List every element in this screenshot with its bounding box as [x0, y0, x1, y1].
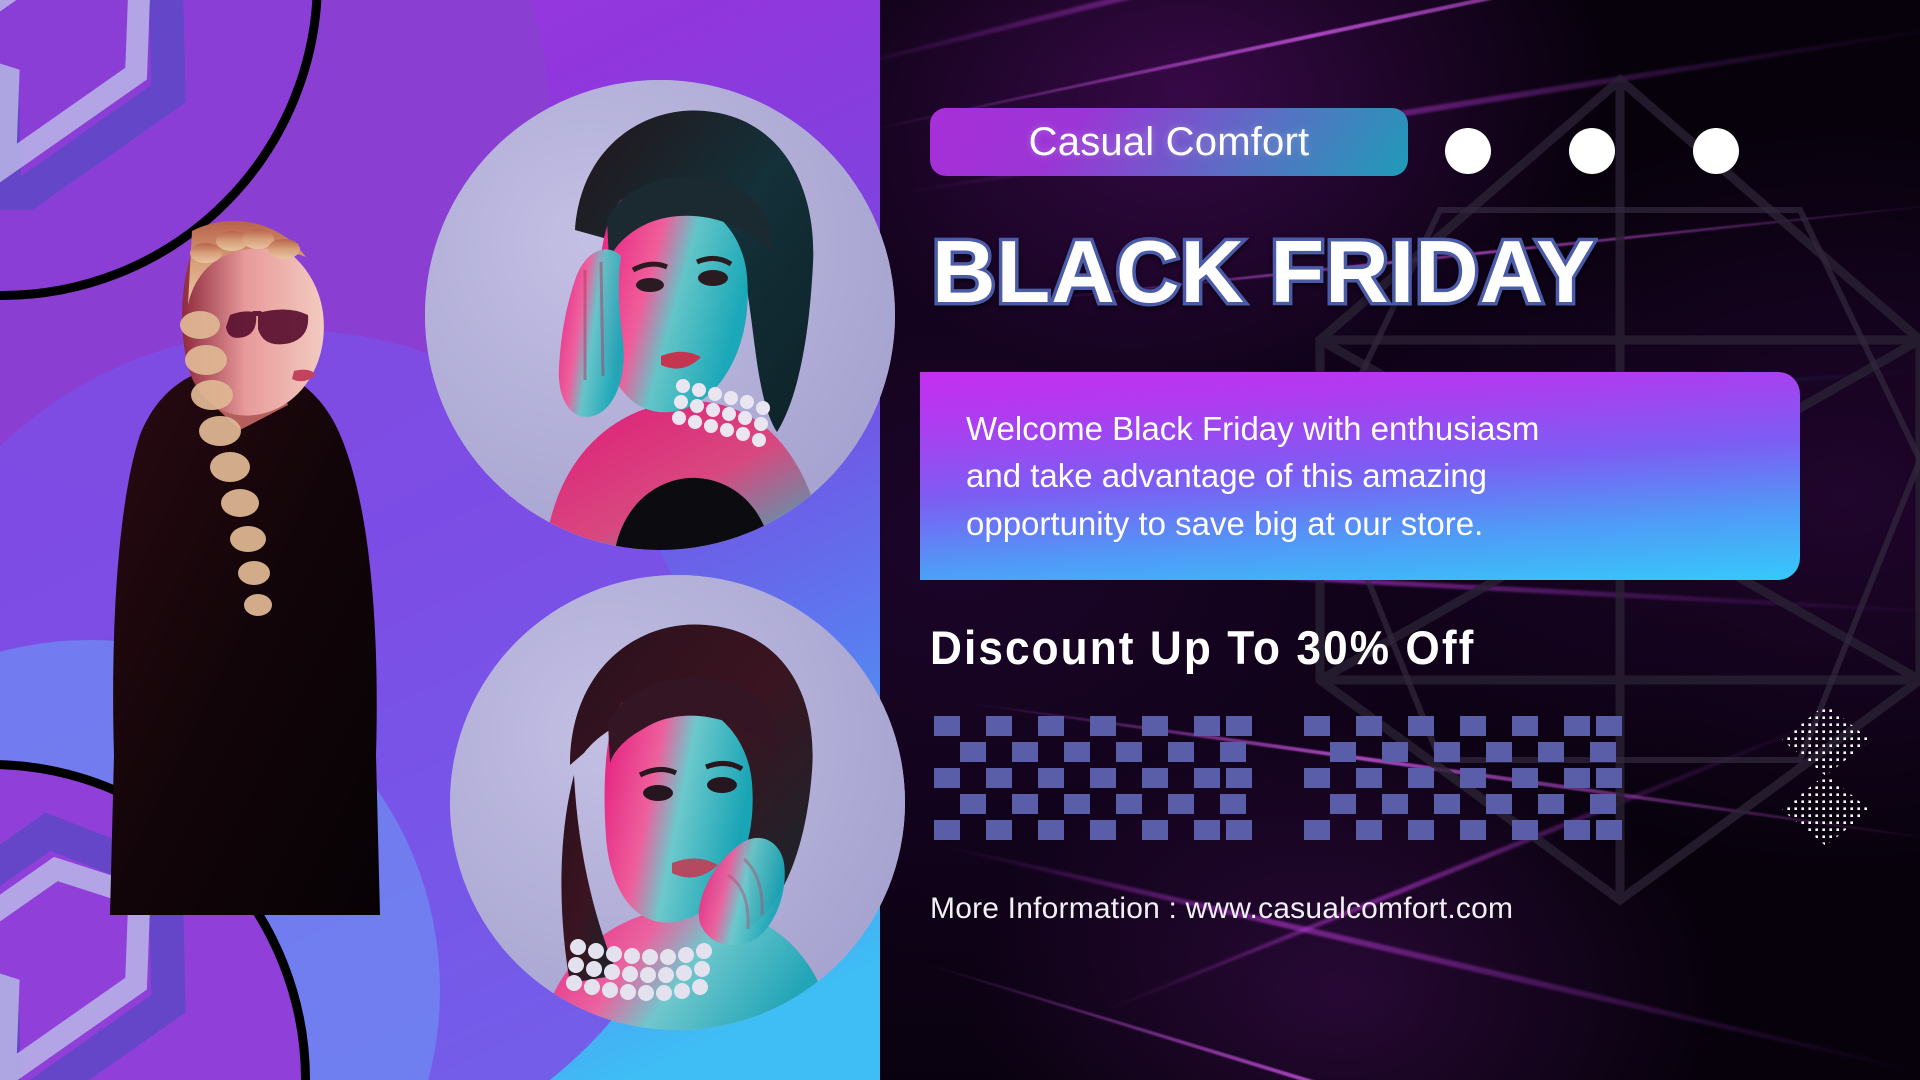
checkerboard-group	[934, 716, 1622, 840]
description-line-3: opportunity to save big at our store.	[966, 505, 1483, 542]
dot-indicator-group	[1445, 128, 1739, 174]
dot-indicator-icon	[1693, 128, 1739, 174]
content-column: Casual Comfort BLACK FRIDAY Welcome Blac…	[930, 0, 1920, 1080]
black-friday-banner: Casual Comfort BLACK FRIDAY Welcome Blac…	[0, 0, 1920, 1080]
description-text: Welcome Black Friday with enthusiasm and…	[920, 405, 1579, 548]
dot-indicator-icon	[1445, 128, 1491, 174]
description-card: Welcome Black Friday with enthusiasm and…	[920, 372, 1800, 580]
diamond-dot-icon	[1778, 700, 1874, 850]
brand-badge-label: Casual Comfort	[1029, 120, 1310, 165]
model-portrait-top	[425, 80, 895, 550]
dot-indicator-icon	[1569, 128, 1615, 174]
description-line-1: Welcome Black Friday with enthusiasm	[966, 410, 1539, 447]
more-information-text: More Information : www.casualcomfort.com	[930, 892, 1830, 926]
portrait-illustration	[450, 575, 905, 1030]
portrait-illustration	[425, 80, 895, 550]
description-line-2: and take advantage of this amazing	[966, 457, 1487, 494]
model-hoodie-left	[80, 195, 410, 915]
discount-headline: Discount Up To 30% Off	[930, 620, 1776, 675]
page-title: BLACK FRIDAY	[932, 228, 1920, 316]
checkerboard-icon	[1304, 716, 1622, 840]
brand-badge[interactable]: Casual Comfort	[930, 108, 1408, 176]
chevron-motif-icon	[0, 0, 220, 210]
checkerboard-icon	[934, 716, 1252, 840]
model-portrait-bottom	[450, 575, 905, 1030]
